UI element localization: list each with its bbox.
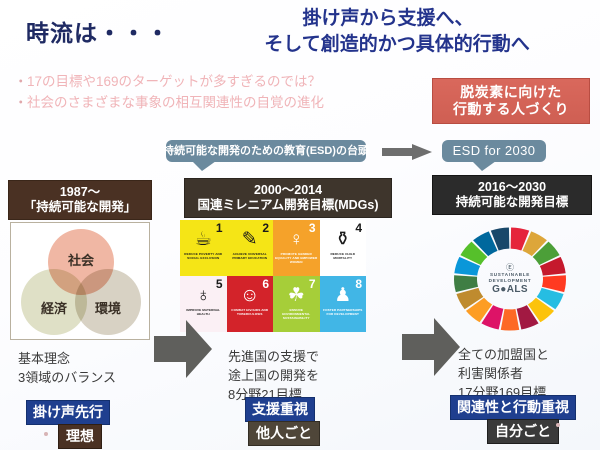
mdg-goal-3: 3♀PROMOTE GENDER EQUALITY AND EMPOWER WO… <box>273 220 320 276</box>
decor-dot-left <box>44 432 48 436</box>
flow-arrow-2-icon <box>400 316 462 378</box>
summary-line: 全ての加盟国と <box>458 346 549 365</box>
mdg-goal-number: 4 <box>355 221 362 235</box>
flow-arrow-1-icon <box>152 318 214 380</box>
mdg-goal-caption: ENSURE ENVIRONMENTAL SUSTAINABILITY <box>273 309 320 321</box>
un-emblem-icon: Ⓔ <box>478 263 542 272</box>
mdg-goal-1: 1☕REDUCE POVERTY AND SOCIAL EXCLUSION <box>180 220 227 276</box>
bullet-text: 17の目標や169のターゲットが多すぎるのでは？ <box>27 72 321 93</box>
venn-label-society: 社会 <box>68 250 94 269</box>
summary-line: 3領域のバランス <box>18 369 116 388</box>
mdg-goal-8: 8♟FOSTER PARTNERSHIPS FOR DEVELOPMENT <box>320 276 367 332</box>
bubble-connector-arrow-icon <box>382 144 432 160</box>
decor-dot-right <box>556 423 560 427</box>
venn-circle-environment: 環境 <box>75 269 141 335</box>
decarbonization-callout: 脱炭素に向けた 行動する人づくり <box>432 78 590 124</box>
mdg-goal-caption: ACHIEVE UNIVERSAL PRIMARY EDUCATION <box>227 253 274 261</box>
mdg-goal-4: 4⚱REDUCE CHILD MORTALITY <box>320 220 367 276</box>
mdg-goal-caption: REDUCE POVERTY AND SOCIAL EXCLUSION <box>180 253 227 261</box>
mdg-goal-icon: ☘ <box>288 285 305 307</box>
mdg-goal-icon: ✎ <box>242 229 258 251</box>
bullet-list: ・ 17の目標や169のターゲットが多すぎるのでは？ ・ 社会のさまざまな事象の… <box>14 72 444 114</box>
venn-label-environment: 環境 <box>95 298 121 317</box>
bullet-marker-icon: ・ <box>14 93 27 114</box>
column-header-title: 持続可能な開発目標 <box>456 195 569 210</box>
mdg-goal-number: 8 <box>355 277 362 291</box>
sdg-segment-9 <box>501 309 519 331</box>
status-badge-era-sdgs-blue: 関連性と行動重視 <box>450 395 576 420</box>
mdg-goal-caption: REDUCE CHILD MORTALITY <box>320 253 367 261</box>
summary-line: 基本理念 <box>18 350 116 369</box>
mdg-goal-number: 3 <box>309 221 316 235</box>
status-badge-era-1987-dark: 理想 <box>58 424 102 449</box>
bullet-marker-icon: ・ <box>14 72 27 93</box>
column-summary-era-1987: 基本理念 3領域のバランス <box>18 350 116 388</box>
sdg-wheel-center-label: Ⓔ SUSTAINABLE DEVELOPMENT G●ALS <box>478 263 542 295</box>
summary-line: 利害関係者 <box>458 365 549 384</box>
page-title-right-line1: 掛け声から支援へ、 <box>302 8 473 29</box>
column-header-title: 国連ミレニアム開発目標(MDGs) <box>197 198 378 213</box>
slide-canvas: 時流は・・・ 掛け声から支援へ、 そして創造的かつ具体的行動へ ・ 17の目標や… <box>0 0 600 450</box>
column-header-era-sdgs: 2016～2030 持続可能な開発目標 <box>432 175 592 215</box>
mdg-goal-6: 6☺COMBAT HIV/AIDS AND TUBERCULOSIS <box>227 276 274 332</box>
mdg-goal-icon: ☕ <box>195 229 212 251</box>
status-badge-era-1987-blue: 掛け声先行 <box>26 400 110 425</box>
mdg-goal-number: 5 <box>216 277 223 291</box>
summary-line: 先進国の支援で <box>228 348 319 367</box>
venn-label-economy: 経済 <box>41 298 67 317</box>
list-item: ・ 17の目標や169のターゲットが多すぎるのでは？ <box>14 72 444 93</box>
decarbonization-callout-line1: 脱炭素に向けた <box>460 84 562 102</box>
mdg-goal-grid: 1☕REDUCE POVERTY AND SOCIAL EXCLUSION2✎A… <box>180 220 366 332</box>
bullet-text: 社会のさまざまな事象の相互関連性の自覚の進化 <box>27 93 324 114</box>
mdg-goal-icon: ⚱ <box>335 229 351 251</box>
decarbonization-callout-line2: 行動する人づくり <box>453 101 569 119</box>
list-item: ・ 社会のさまざまな事象の相互関連性の自覚の進化 <box>14 93 444 114</box>
column-header-era-1987: 1987～ 「持続可能な開発」 <box>8 180 152 220</box>
sdg-center-line3: G●ALS <box>478 284 542 295</box>
mdg-goal-caption: PROMOTE GENDER EQUALITY AND EMPOWER WOME… <box>273 253 320 265</box>
mdg-goal-caption: FOSTER PARTNERSHIPS FOR DEVELOPMENT <box>320 309 367 317</box>
mdg-goal-2: 2✎ACHIEVE UNIVERSAL PRIMARY EDUCATION <box>227 220 274 276</box>
esd-rise-bubble: 持続可能な開発のための教育(ESD)の台頭 <box>166 140 366 162</box>
column-header-title: 「持続可能な開発」 <box>24 200 137 215</box>
esd-2030-bubble: ESD for 2030 <box>442 140 546 162</box>
mdg-goal-number: 1 <box>216 221 223 235</box>
mdg-goal-caption: COMBAT HIV/AIDS AND TUBERCULOSIS <box>227 309 274 317</box>
column-header-year: 1987～ <box>60 185 100 200</box>
mdg-goal-icon: ♀ <box>289 229 303 251</box>
mdg-goal-icon: ♁ <box>196 285 210 307</box>
mdg-goal-caption: IMPROVE MATERNAL HEALTH <box>180 309 227 317</box>
status-badge-era-sdgs-dark: 自分ごと <box>487 419 559 444</box>
mdg-goal-number: 2 <box>262 221 269 235</box>
column-header-year: 2016～2030 <box>478 180 546 195</box>
venn-diagram: 社会 経済 環境 <box>10 222 150 340</box>
status-badge-era-mdgs-dark: 他人ごと <box>248 421 320 446</box>
mdg-goal-7: 7☘ENSURE ENVIRONMENTAL SUSTAINABILITY <box>273 276 320 332</box>
mdg-goal-icon: ♟ <box>334 285 351 307</box>
page-title-left: 時流は・・・ <box>26 14 170 48</box>
mdg-goal-number: 6 <box>262 277 269 291</box>
page-title-right-line2: そして創造的かつ具体的行動へ <box>178 32 598 58</box>
mdg-goal-number: 7 <box>309 277 316 291</box>
page-title-right: 掛け声から支援へ、 そして創造的かつ具体的行動へ <box>178 6 598 57</box>
status-badge-era-mdgs-blue: 支援重視 <box>245 397 315 422</box>
column-header-year: 2000～2014 <box>254 183 322 198</box>
column-header-era-mdgs: 2000～2014 国連ミレニアム開発目標(MDGs) <box>184 178 392 218</box>
summary-line: 途上国の開発を <box>228 367 319 386</box>
mdg-goal-icon: ☺ <box>240 285 259 307</box>
